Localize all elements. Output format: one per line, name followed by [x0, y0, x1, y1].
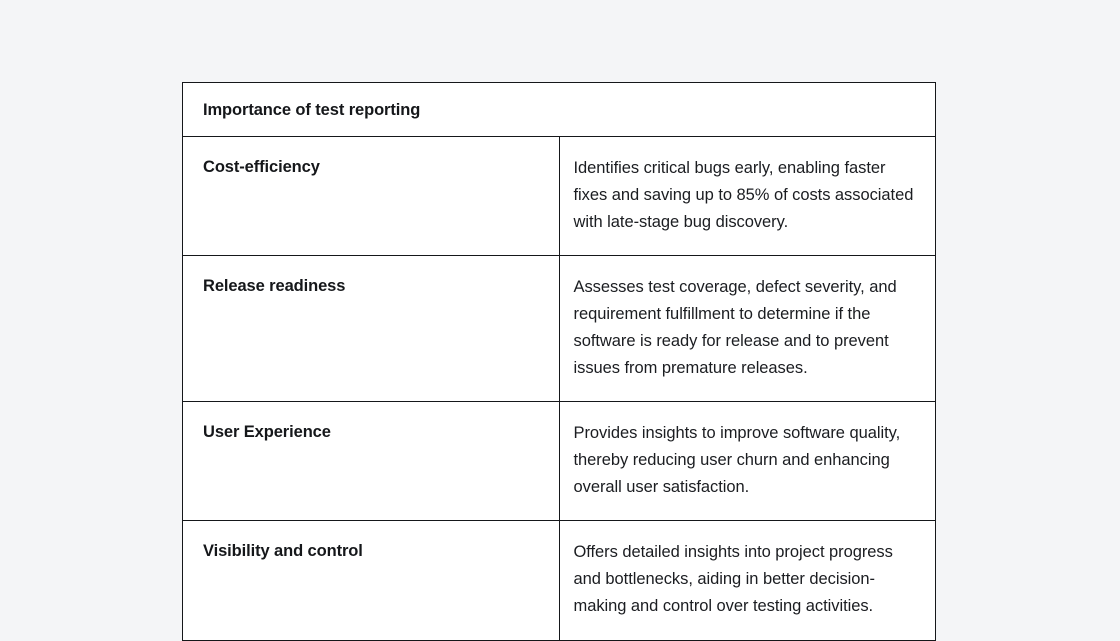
table-body: Cost-efficiency Identifies critical bugs…: [183, 137, 935, 640]
row-description: Assesses test coverage, defect severity,…: [559, 256, 935, 402]
table-head: Importance of test reporting: [183, 83, 935, 137]
table-title: Importance of test reporting: [183, 83, 935, 137]
row-label: User Experience: [183, 402, 559, 521]
report-table: Importance of test reporting Cost-effici…: [183, 83, 935, 640]
table-header-row: Importance of test reporting: [183, 83, 935, 137]
row-label: Cost-efficiency: [183, 137, 559, 256]
page-canvas: Importance of test reporting Cost-effici…: [0, 0, 1120, 609]
row-description: Identifies critical bugs early, enabling…: [559, 137, 935, 256]
row-label: Visibility and control: [183, 521, 559, 640]
table-row: Release readiness Assesses test coverage…: [183, 256, 935, 402]
table-row: User Experience Provides insights to imp…: [183, 402, 935, 521]
table-row: Cost-efficiency Identifies critical bugs…: [183, 137, 935, 256]
table-row: Visibility and control Offers detailed i…: [183, 521, 935, 640]
row-label: Release readiness: [183, 256, 559, 402]
importance-of-test-reporting-table: Importance of test reporting Cost-effici…: [182, 82, 936, 641]
row-description: Offers detailed insights into project pr…: [559, 521, 935, 640]
row-description: Provides insights to improve software qu…: [559, 402, 935, 521]
